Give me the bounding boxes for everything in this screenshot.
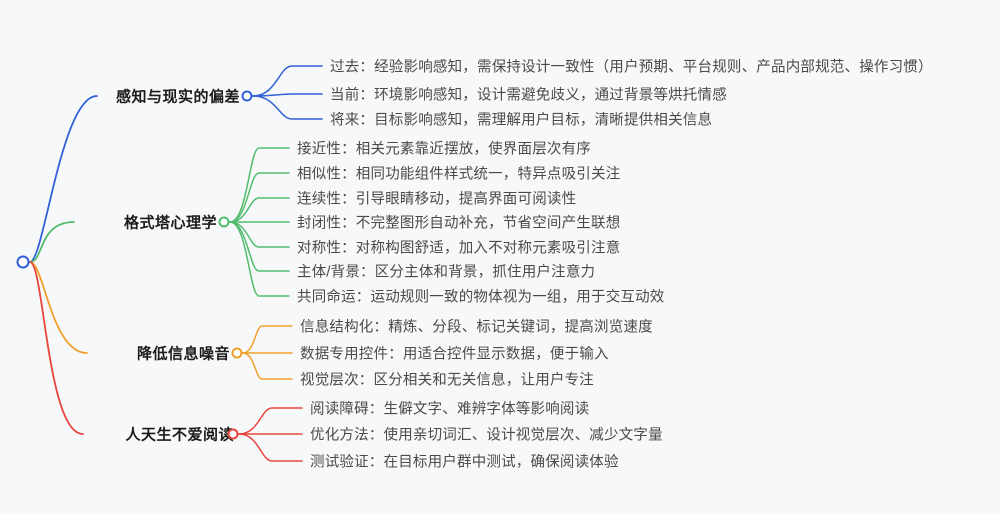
link-branch-to-leaf [253, 66, 322, 96]
branch-label-perception[interactable]: 感知与现实的偏差 [116, 86, 240, 107]
link-root-to-branch [30, 222, 74, 262]
branch-label-gestalt[interactable]: 格式塔心理学 [124, 212, 217, 233]
leaf-label[interactable]: 对称性：对称构图舒适，加入不对称元素吸引注意 [297, 237, 620, 258]
leaf-label[interactable]: 过去：经验影响感知，需保持设计一致性（用户预期、平台规则、产品内部规范、操作习惯… [330, 56, 933, 77]
link-branch-to-leaf [243, 326, 292, 353]
branch-node-noise[interactable] [232, 348, 243, 359]
leaf-label[interactable]: 相似性：相同功能组件样式统一，特异点吸引关注 [297, 163, 620, 184]
link-branch-to-leaf [230, 173, 289, 222]
branch-node-reading[interactable] [228, 429, 239, 440]
link-branch-to-leaf [230, 222, 289, 247]
link-branch-to-leaf [239, 408, 302, 434]
link-branch-to-leaf [239, 434, 302, 461]
link-branch-to-leaf [230, 148, 289, 222]
leaf-label[interactable]: 测试验证：在目标用户群中测试，确保阅读体验 [310, 451, 619, 472]
leaf-label[interactable]: 主体/背景：区分主体和背景，抓住用户注意力 [297, 261, 595, 282]
branch-node-gestalt[interactable] [219, 217, 230, 228]
leaf-label[interactable]: 接近性：相关元素靠近摆放，使界面层次有序 [297, 138, 591, 159]
branch-node-perception[interactable] [242, 91, 253, 102]
link-branch-to-leaf [230, 222, 289, 271]
leaf-label[interactable]: 优化方法：使用亲切词汇、设计视觉层次、减少文字量 [310, 424, 663, 445]
leaf-label[interactable]: 共同命运：运动规则一致的物体视为一组，用于交互动效 [297, 286, 665, 307]
link-root-to-branch [30, 262, 87, 353]
leaf-label[interactable]: 当前：环境影响感知，设计需避免歧义，通过背景等烘托情感 [330, 84, 727, 105]
link-branch-to-leaf [253, 94, 322, 96]
link-root-to-branch [30, 96, 97, 262]
link-branch-to-leaf [230, 222, 289, 296]
branch-label-noise[interactable]: 降低信息噪音 [137, 343, 230, 364]
link-branch-to-leaf [230, 198, 289, 222]
link-root-to-branch [30, 262, 83, 434]
leaf-label[interactable]: 数据专用控件：用适合控件显示数据，便于输入 [300, 343, 609, 364]
mindmap-canvas: 感知与现实的偏差 过去：经验影响感知，需保持设计一致性（用户预期、平台规则、产品… [0, 0, 1000, 514]
link-branch-to-leaf [243, 353, 292, 379]
leaf-label[interactable]: 阅读障碍：生僻文字、难辨字体等影响阅读 [310, 398, 589, 419]
link-branch-to-leaf [253, 96, 322, 119]
root-node[interactable] [17, 256, 30, 269]
leaf-label[interactable]: 连续性：引导眼睛移动，提高界面可阅读性 [297, 188, 576, 209]
leaf-label[interactable]: 将来：目标影响感知，需理解用户目标，清晰提供相关信息 [330, 109, 712, 130]
leaf-label[interactable]: 封闭性：不完整图形自动补充，节省空间产生联想 [297, 212, 620, 233]
leaf-label[interactable]: 视觉层次：区分相关和无关信息，让用户专注 [300, 369, 594, 390]
leaf-label[interactable]: 信息结构化：精炼、分段、标记关键词，提高浏览速度 [300, 316, 653, 337]
branch-label-reading[interactable]: 人天生不爱阅读 [125, 424, 234, 445]
